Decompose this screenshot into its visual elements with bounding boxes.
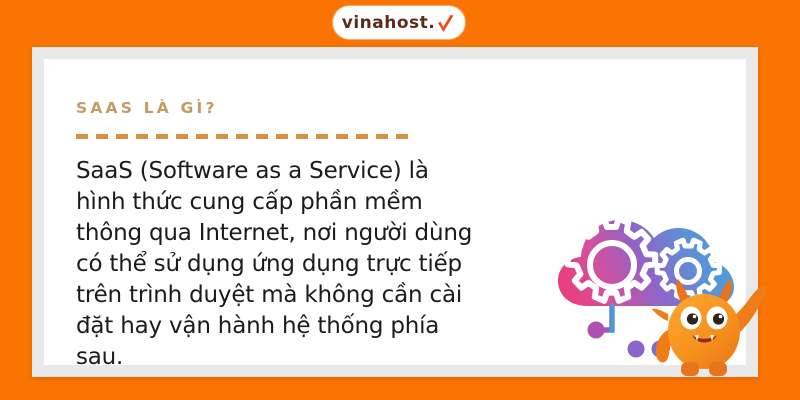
text-column: SAAS LÀ GÌ? SaaS (Software as a Service)… bbox=[76, 99, 496, 373]
logo-wordmark: vinahost. bbox=[342, 15, 435, 32]
vinahost-logo[interactable]: vinahost. bbox=[333, 6, 465, 39]
check-icon bbox=[436, 14, 456, 36]
dashed-divider bbox=[76, 134, 414, 139]
infographic-canvas: { "background": { "color": "#fb7300" }, … bbox=[0, 0, 800, 400]
monster-mascot bbox=[650, 272, 780, 384]
mascot-body bbox=[668, 294, 740, 369]
content-card-surface: SAAS LÀ GÌ? SaaS (Software as a Service)… bbox=[44, 59, 746, 365]
definition-paragraph: SaaS (Software as a Service) là hình thứ… bbox=[76, 156, 476, 373]
section-heading: SAAS LÀ GÌ? bbox=[76, 99, 496, 117]
